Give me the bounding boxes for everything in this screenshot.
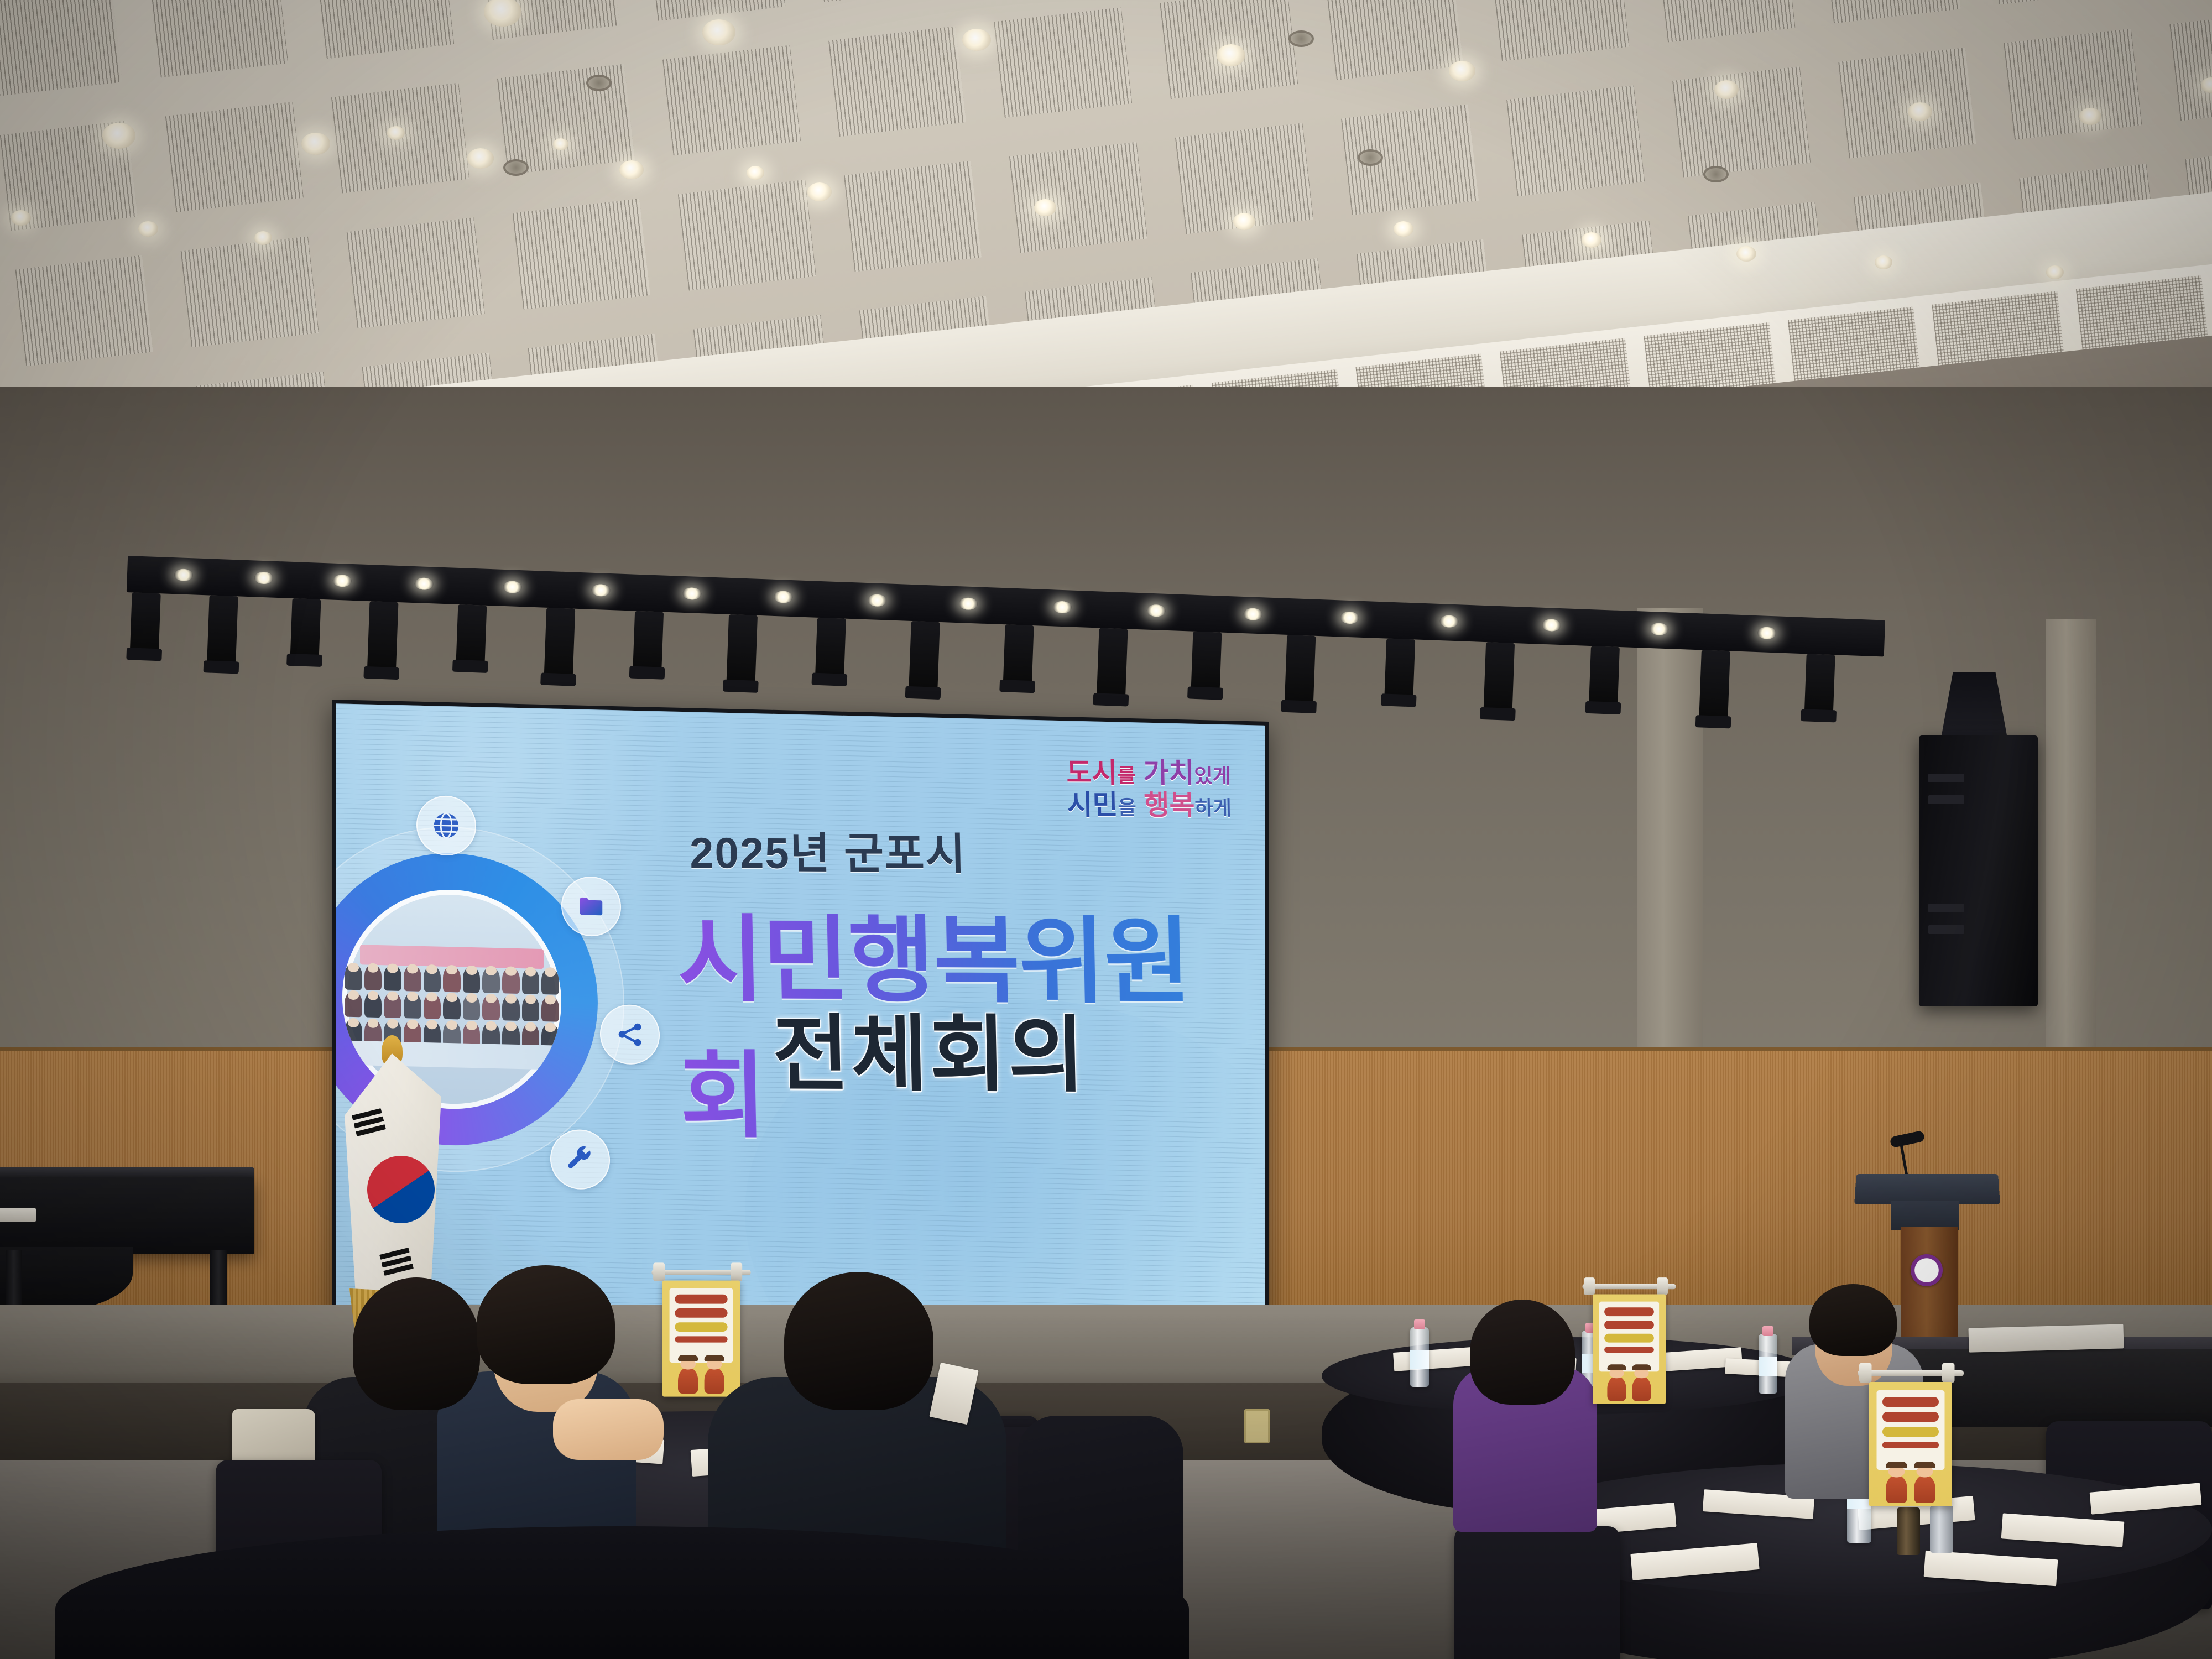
ceiling-downlight — [962, 29, 991, 51]
photo-banner-bottom — [347, 1041, 557, 1070]
table-sign-mascot — [1632, 1376, 1651, 1401]
stage-spotlight — [367, 601, 399, 673]
ceiling-downlight — [1034, 199, 1056, 216]
wall-column-center — [1637, 608, 1703, 1056]
ceiling-tile — [150, 0, 288, 78]
ceiling-downlight — [747, 166, 764, 180]
stage-spotlight — [909, 621, 940, 693]
sprinkler-head — [1703, 166, 1729, 182]
stage-spotlight — [1384, 639, 1415, 701]
photo-person-face — [368, 991, 379, 1000]
stage-spotlight — [1097, 628, 1128, 700]
table-sign-mascot — [1607, 1376, 1626, 1401]
ceiling-downlight — [138, 221, 158, 237]
stage-spotlight — [1699, 650, 1730, 722]
wall-column-right — [2046, 619, 2096, 1056]
ceiling-downlight — [1217, 44, 1245, 66]
ceiling-downlight — [387, 126, 405, 140]
truss-led-point — [1757, 627, 1777, 639]
ceiling-downlight — [807, 182, 832, 201]
ceiling-downlight — [1394, 221, 1413, 237]
photo-person-face — [466, 993, 477, 1003]
stage-spotlight — [1589, 646, 1620, 708]
table-sign-clip — [1584, 1277, 1595, 1295]
sprinkler-head — [1358, 149, 1383, 166]
photo-person-face — [545, 995, 556, 1004]
table-sign-text-line — [1882, 1442, 1939, 1448]
table-sign-mascots — [1869, 1467, 1952, 1503]
stage-spotlight — [633, 611, 664, 673]
grand-piano-nameplate — [0, 1208, 36, 1222]
share-icon — [615, 1020, 644, 1049]
truss-led-point — [959, 597, 978, 610]
lectern-top — [1854, 1174, 2000, 1204]
ceiling-tile — [2169, 10, 2212, 121]
ceiling-tile — [165, 102, 304, 212]
ceiling-tile — [1326, 0, 1464, 80]
table-sign-text-line — [675, 1336, 727, 1342]
stage-spotlight — [456, 604, 487, 666]
beverage-can — [1897, 1507, 1920, 1555]
person-navy-top-hair — [477, 1265, 615, 1384]
water-bottle — [1759, 1334, 1777, 1394]
table-sign-mascots — [662, 1359, 740, 1394]
person-purple-jacket-hair — [1470, 1300, 1575, 1405]
photo-person-face — [446, 1020, 457, 1030]
line-array-speaker — [1919, 735, 2038, 1006]
ceiling-tile — [512, 199, 650, 309]
table-sign-text-line — [1604, 1307, 1654, 1316]
table-sign-text-line — [1604, 1347, 1654, 1353]
screen-surface: 도시를 가치있게 시민을 행복하게 2025년 군포시 시민행복위원회 전체회의 — [336, 703, 1265, 1334]
stage-spotlight — [130, 592, 161, 654]
table-sign-clip — [731, 1262, 742, 1281]
table-sign-text-line — [675, 1322, 727, 1332]
slide-subhead: 전체회의 — [771, 987, 1088, 1108]
table-sign-text-line — [1604, 1334, 1654, 1343]
table-sign-text-block — [1877, 1390, 1945, 1470]
ceiling — [0, 0, 2212, 420]
ceiling-tile — [316, 0, 454, 59]
ceiling-tile — [994, 7, 1132, 118]
table-sign-clip — [653, 1262, 665, 1281]
ceiling-tile — [1491, 0, 1629, 61]
sprinkler-head — [586, 75, 612, 91]
ceiling-downlight — [1449, 61, 1475, 81]
table-sign-mascot — [1914, 1475, 1936, 1503]
ceiling-downlight — [702, 19, 735, 45]
floor-socket-plate — [1244, 1409, 1270, 1443]
photo-person-face — [486, 966, 497, 975]
truss-led-point — [1650, 623, 1669, 635]
photo-person-face — [525, 967, 536, 977]
sprinkler-head — [1288, 30, 1314, 47]
truss-led-point — [868, 594, 887, 607]
ceiling-downlight — [1582, 232, 1601, 248]
photo-person-face — [545, 1022, 556, 1032]
person-gray-jacket-hair — [1809, 1284, 1897, 1356]
photo-person-face — [426, 1020, 437, 1029]
truss-led-point — [774, 591, 793, 603]
table-sign-text-block — [1599, 1302, 1659, 1372]
table-sign-mascot — [678, 1367, 698, 1394]
ceiling-tile — [0, 0, 123, 97]
ceiling-tile — [1506, 85, 1645, 196]
chair-right-side — [1454, 1526, 1620, 1659]
ceiling-downlight — [2046, 265, 2064, 279]
lectern-neck — [1891, 1201, 1959, 1230]
photo-person-face — [387, 964, 398, 973]
ceiling-tile — [1672, 66, 1811, 177]
photo-person-face — [505, 1021, 517, 1031]
city-slogan: 도시를 가치있게 시민을 행복하게 — [1066, 758, 1232, 820]
truss-led-point — [503, 581, 522, 593]
ceiling-downlight — [102, 123, 135, 149]
wrench-icon — [566, 1145, 594, 1174]
person-navy-top-hands — [553, 1399, 664, 1460]
ceiling-tile — [1989, 0, 2127, 5]
ceiling-tile — [346, 217, 484, 328]
photo-person-face — [545, 967, 556, 977]
photo-person-face — [407, 964, 418, 974]
ceiling-downlight — [1736, 246, 1756, 262]
stage-spotlight — [815, 618, 846, 680]
truss-led-point — [591, 584, 611, 597]
photo-person-face — [407, 1019, 418, 1029]
table-sign-text-line — [675, 1308, 727, 1318]
ceiling-tile — [813, 0, 951, 2]
ceiling-tile — [497, 64, 635, 175]
stage-spotlight — [1285, 635, 1316, 707]
ceiling-tile — [647, 0, 785, 21]
stage-spotlight — [544, 608, 576, 680]
person-suit-hair — [784, 1272, 933, 1410]
water-bottle — [1410, 1327, 1429, 1387]
photo-person-face — [348, 1018, 359, 1027]
ceiling-tile — [1657, 0, 1795, 43]
table-sign-mascot — [705, 1367, 724, 1394]
truss-led-point — [1243, 608, 1262, 620]
ceiling-tile — [828, 26, 967, 137]
truss-led-point — [414, 577, 434, 590]
table-sign-mascot — [1886, 1475, 1907, 1503]
city-emblem-icon — [1911, 1254, 1943, 1286]
sprinkler-head — [503, 159, 529, 176]
photo-person-face — [466, 1021, 477, 1030]
table-sign-clip — [1657, 1277, 1668, 1295]
truss-led-point — [1439, 615, 1459, 628]
ceiling-tile — [181, 237, 319, 347]
truss-led-point — [1542, 619, 1561, 632]
ceiling-tile — [1823, 0, 1961, 24]
ceiling-downlight — [2079, 108, 2101, 125]
photo-person-face — [486, 994, 497, 1003]
photo-person-face — [407, 992, 418, 1001]
photo-person-face — [505, 994, 517, 1004]
wrench-icon-badge — [550, 1129, 610, 1190]
slogan-line-1: 도시를 가치있게 — [1066, 758, 1231, 788]
table-sign-text-line — [1604, 1321, 1654, 1329]
ceiling-downlight — [254, 231, 272, 245]
ceiling-tile — [1838, 48, 1976, 158]
photo-person-face — [426, 992, 437, 1001]
ceiling-downlight — [467, 148, 494, 169]
person-black-top-hair — [353, 1277, 480, 1410]
photo-person-face — [486, 1021, 497, 1031]
table-sign-text-block — [670, 1288, 733, 1363]
stage-spotlight — [207, 595, 238, 667]
truss-led-point — [332, 575, 352, 587]
ceiling-downlight — [11, 210, 31, 226]
ceiling-downlight — [301, 133, 330, 155]
bottle-label — [1410, 1350, 1429, 1369]
stage-spotlight — [1003, 624, 1034, 686]
truss-led-point — [1053, 601, 1072, 613]
truss-led-point — [1340, 611, 1359, 624]
ceiling-tile — [15, 255, 153, 366]
ceiling-downlight — [1714, 80, 1739, 99]
stage-spotlight — [726, 614, 758, 686]
ceiling-downlight — [619, 160, 644, 179]
photo-person-face — [387, 992, 398, 1001]
beverage-can — [1930, 1505, 1953, 1553]
globe-icon — [431, 810, 462, 841]
truss-led-point — [174, 568, 194, 581]
ceiling-tile — [843, 161, 982, 272]
photo-person-face — [348, 963, 359, 972]
ceiling-downlight — [1875, 255, 1892, 269]
table-sign-card — [1593, 1294, 1666, 1404]
lectern-body — [1901, 1227, 1958, 1354]
table-sign-mascots — [1593, 1369, 1666, 1401]
folder-icon — [576, 891, 606, 921]
table-sign-text-line — [1882, 1427, 1939, 1437]
grand-piano-body — [0, 1177, 254, 1254]
truss-led-point — [682, 587, 702, 600]
table-sign-clip — [1859, 1363, 1872, 1383]
led-presentation-screen: 도시를 가치있게 시민을 행복하게 2025년 군포시 시민행복위원회 전체회의 — [332, 700, 1269, 1338]
table-sign-card — [1869, 1382, 1952, 1506]
table-sign-text-line — [1882, 1397, 1939, 1407]
photo-person-face — [387, 1019, 398, 1028]
stage-spotlight — [1191, 632, 1222, 693]
ceiling-downlight — [1908, 102, 1932, 121]
photo-person-face — [368, 963, 379, 973]
photo-person-face — [368, 1019, 379, 1028]
slogan-line-2: 시민을 행복하게 — [1067, 790, 1232, 820]
photo-person-face — [446, 965, 457, 974]
photo-person-face — [505, 967, 517, 976]
photo-person-face — [348, 990, 359, 1000]
ceiling-downlight — [1233, 213, 1255, 230]
table-sign-clip — [1942, 1363, 1955, 1383]
ceiling-tile — [1009, 142, 1147, 253]
stage-spotlight — [290, 598, 321, 660]
slide-kicker: 2025년 군포시 — [689, 818, 967, 881]
ceiling-tile — [662, 45, 801, 156]
bottle-label — [1759, 1357, 1777, 1376]
ceiling-tile — [678, 180, 816, 290]
truss-led-point — [254, 571, 274, 584]
table-sign-text-line — [675, 1295, 727, 1304]
photo-person-face — [466, 966, 477, 975]
table-sign-text-line — [1882, 1412, 1939, 1422]
truss-led-point — [1146, 604, 1166, 617]
photo-person-face — [426, 964, 437, 974]
ceiling-downlight — [553, 138, 568, 150]
stage-spotlight — [1483, 642, 1515, 714]
conference-hall-photo: 도시를 가치있게 시민을 행복하게 2025년 군포시 시민행복위원회 전체회의 — [0, 0, 2212, 1659]
photo-person-face — [525, 1022, 536, 1031]
ceiling-tile — [2004, 29, 2142, 139]
head-table-papers — [1968, 1324, 2124, 1352]
table-sign-card — [662, 1281, 740, 1397]
stage-spotlight — [1804, 654, 1835, 716]
photo-person-face — [446, 993, 457, 1002]
photo-person-face — [525, 994, 536, 1004]
